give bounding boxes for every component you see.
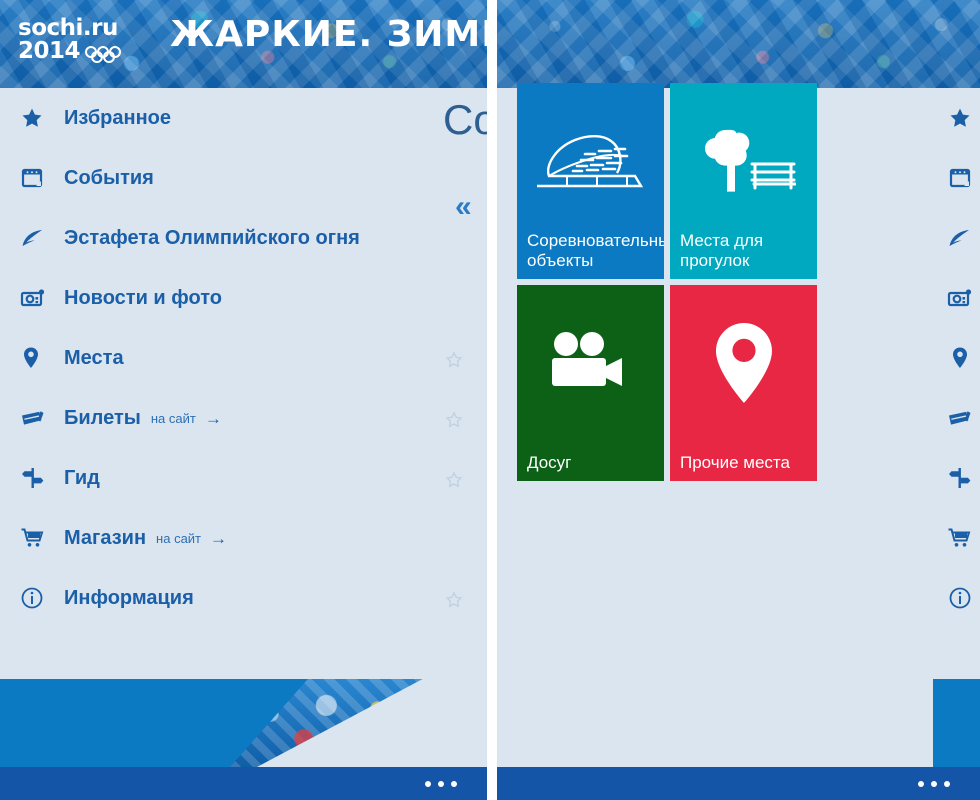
- decorative-bottom-band: [0, 679, 487, 767]
- menu-label: Избранное: [64, 107, 171, 130]
- ticket-icon[interactable]: [947, 388, 973, 448]
- header-pattern-overlay: [497, 0, 980, 88]
- camera-icon[interactable]: [947, 268, 973, 328]
- cart-icon[interactable]: [947, 508, 973, 568]
- tile-other-places[interactable]: Прочие места: [670, 285, 817, 481]
- cart-icon: [20, 524, 52, 552]
- tile-row: Соревновательные объекты Ме: [517, 83, 817, 279]
- edge-icon-rail: [940, 88, 980, 628]
- favorite-toggle[interactable]: [444, 590, 464, 610]
- info-icon[interactable]: [948, 568, 972, 628]
- brand-header-right: [497, 0, 980, 88]
- torch-icon: [20, 224, 52, 252]
- favorite-toggle[interactable]: [444, 470, 464, 490]
- signpost-icon[interactable]: [947, 448, 973, 508]
- menu-label: Новости и фото: [64, 287, 222, 310]
- tile-label: Соревновательные объекты: [527, 231, 656, 271]
- ellipsis-icon[interactable]: [425, 781, 457, 787]
- menu-item-shop[interactable]: Магазин на сайт →: [0, 508, 487, 568]
- camera-icon: [20, 284, 52, 312]
- menu-sublabel: на сайт: [151, 411, 196, 426]
- tile-leisure[interactable]: Досуг: [517, 285, 664, 481]
- menu-item-tickets[interactable]: Билеты на сайт →: [0, 388, 487, 448]
- menu-item-places[interactable]: Места: [0, 328, 487, 388]
- park-bench-icon: [670, 111, 817, 211]
- menu-item-favorites[interactable]: Избранное: [0, 88, 487, 148]
- calendar-icon[interactable]: [948, 148, 972, 208]
- tile-competition-venues[interactable]: Соревновательные объекты: [517, 83, 664, 279]
- left-app-bar: [0, 767, 487, 800]
- torch-icon[interactable]: [947, 208, 973, 268]
- favorite-toggle[interactable]: [444, 350, 464, 370]
- favorite-toggle[interactable]: [444, 410, 464, 430]
- tile-label: Места для прогулок: [680, 231, 809, 271]
- decorative-bottom-block: [933, 679, 980, 767]
- menu-label: Билеты: [64, 407, 141, 430]
- header-tagline: ЖАРКИЕ. ЗИМНИЕ. ТВОИ.: [170, 14, 487, 55]
- menu-label: Эстафета Олимпийского огня: [64, 227, 360, 250]
- video-camera-icon: [517, 313, 664, 413]
- brand-header: sochi.ru 2014: [0, 0, 487, 88]
- signpost-icon: [20, 464, 52, 492]
- tile-grid: Соревновательные объекты Ме: [517, 83, 817, 487]
- menu-sublabel: на сайт: [156, 531, 201, 546]
- map-pin-icon: [670, 313, 817, 413]
- right-app-bar: [497, 767, 980, 800]
- tile-walking-places[interactable]: Места для прогулок: [670, 83, 817, 279]
- logo-line2: 2014: [18, 40, 80, 63]
- external-link-arrow-icon: →: [210, 530, 227, 547]
- star-icon: [20, 104, 52, 132]
- tile-label: Досуг: [527, 453, 656, 473]
- right-screen: Места: [497, 0, 980, 800]
- menu-item-news-photo[interactable]: Новости и фото: [0, 268, 487, 328]
- menu-item-guide[interactable]: Гид: [0, 448, 487, 508]
- app-screenshot: sochi.ru 2014: [0, 0, 980, 800]
- pin-icon[interactable]: [949, 328, 971, 388]
- left-screen: sochi.ru 2014: [0, 0, 487, 800]
- ticket-icon: [20, 404, 52, 432]
- menu-item-events[interactable]: События: [0, 148, 487, 208]
- info-icon: [20, 584, 52, 612]
- tile-label: Прочие места: [680, 453, 809, 473]
- logo-line1: sochi.ru: [18, 17, 158, 40]
- menu-label: События: [64, 167, 154, 190]
- sochi-logo: sochi.ru 2014: [18, 17, 158, 69]
- pin-icon: [20, 344, 52, 372]
- external-link-arrow-icon: →: [205, 410, 222, 427]
- ellipsis-icon[interactable]: [918, 781, 950, 787]
- menu-item-information[interactable]: Информация: [0, 568, 487, 628]
- menu-label: Информация: [64, 587, 194, 610]
- calendar-icon: [20, 164, 52, 192]
- star-icon[interactable]: [948, 88, 972, 148]
- menu-label: Гид: [64, 467, 100, 490]
- main-menu: Избранное События: [0, 88, 487, 628]
- stadium-icon: [517, 111, 664, 211]
- tile-row: Досуг Прочие места: [517, 285, 817, 481]
- menu-label: Магазин: [64, 527, 146, 550]
- menu-label: Места: [64, 347, 124, 370]
- menu-item-torch-relay[interactable]: Эстафета Олимпийского огня: [0, 208, 487, 268]
- olympic-rings-icon: [83, 46, 129, 63]
